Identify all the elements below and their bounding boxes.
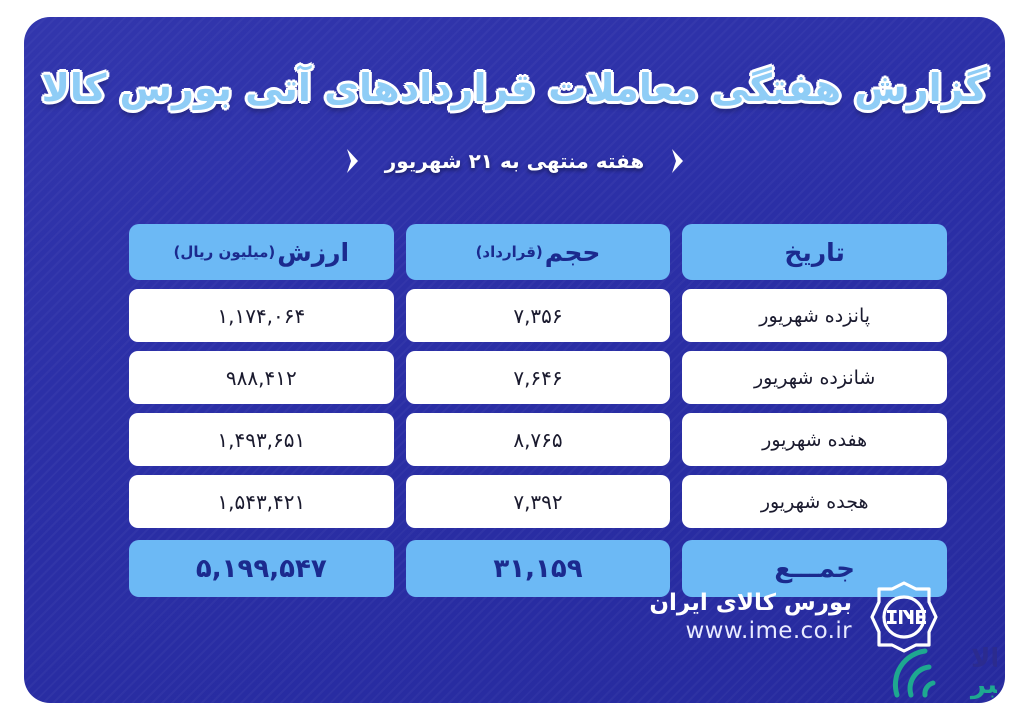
column-header-date-label: تاریخ — [784, 238, 845, 267]
subtitle-text: هفته منتهی به ۲۱ شهریور — [385, 149, 645, 173]
column-header-volume-unit: (قرارداد) — [476, 243, 543, 261]
subtitle-container: هفته منتهی به ۲۱ شهریور — [24, 148, 1005, 174]
cell-date: شانزده شهریور — [682, 351, 947, 404]
table-row: شانزده شهریور ۷,۶۴۶ ۹۸۸,۴۱۲ — [129, 351, 947, 404]
ime-logo-icon — [866, 579, 942, 655]
total-volume: ۳۱,۱۵۹ — [406, 540, 671, 597]
poster-root: گزارش هفتگی معاملات قراردادهای آتی بورس … — [0, 0, 1027, 720]
table-row: هفده شهریور ۸,۷۶۵ ۱,۴۹۳,۶۵۱ — [129, 413, 947, 466]
cell-value: ۹۸۸,۴۱۲ — [129, 351, 394, 404]
futures-report-table: تاریخ حجم (قرارداد) ارزش (میلیون ریال) پ… — [129, 224, 947, 597]
chevron-right-icon — [670, 148, 684, 174]
cell-value: ۱,۱۷۴,۰۶۴ — [129, 289, 394, 342]
cell-volume: ۷,۳۹۲ — [406, 475, 671, 528]
cell-date: پانزده شهریور — [682, 289, 947, 342]
cell-date: هفده شهریور — [682, 413, 947, 466]
table-row: پانزده شهریور ۷,۳۵۶ ۱,۱۷۴,۰۶۴ — [129, 289, 947, 342]
cell-value: ۱,۵۴۳,۴۲۱ — [129, 475, 394, 528]
website-url: www.ime.co.ir — [685, 617, 852, 645]
cell-value: ۱,۴۹۳,۶۵۱ — [129, 413, 394, 466]
column-header-value: ارزش (میلیون ریال) — [129, 224, 394, 280]
cell-volume: ۷,۳۵۶ — [406, 289, 671, 342]
table-header-row: تاریخ حجم (قرارداد) ارزش (میلیون ریال) — [129, 224, 947, 280]
cell-volume: ۷,۶۴۶ — [406, 351, 671, 404]
chevron-left-icon — [345, 148, 359, 174]
column-header-value-unit: (میلیون ریال) — [174, 243, 276, 261]
total-value: ۵,۱۹۹,۵۴۷ — [129, 540, 394, 597]
cell-volume: ۸,۷۶۵ — [406, 413, 671, 466]
column-header-volume-label: حجم — [545, 238, 601, 267]
svg-text:خبر: خبر — [969, 670, 997, 700]
column-header-value-label: ارزش — [277, 238, 349, 267]
organization-name: بورس کالای ایران — [649, 589, 852, 617]
column-header-date: تاریخ — [682, 224, 947, 280]
footer-text-block: بورس کالای ایران www.ime.co.ir — [649, 589, 852, 645]
column-header-volume: حجم (قرارداد) — [406, 224, 671, 280]
svg-text:کالا: کالا — [971, 644, 997, 674]
table-row: هجده شهریور ۷,۳۹۲ ۱,۵۴۳,۴۲۱ — [129, 475, 947, 528]
footer-branding: بورس کالای ایران www.ime.co.ir — [649, 579, 942, 655]
page-title: گزارش هفتگی معاملات قراردادهای آتی بورس … — [42, 65, 988, 113]
cell-date: هجده شهریور — [682, 475, 947, 528]
title-container: گزارش هفتگی معاملات قراردادهای آتی بورس … — [24, 65, 1005, 113]
poster-panel: گزارش هفتگی معاملات قراردادهای آتی بورس … — [24, 17, 1005, 703]
